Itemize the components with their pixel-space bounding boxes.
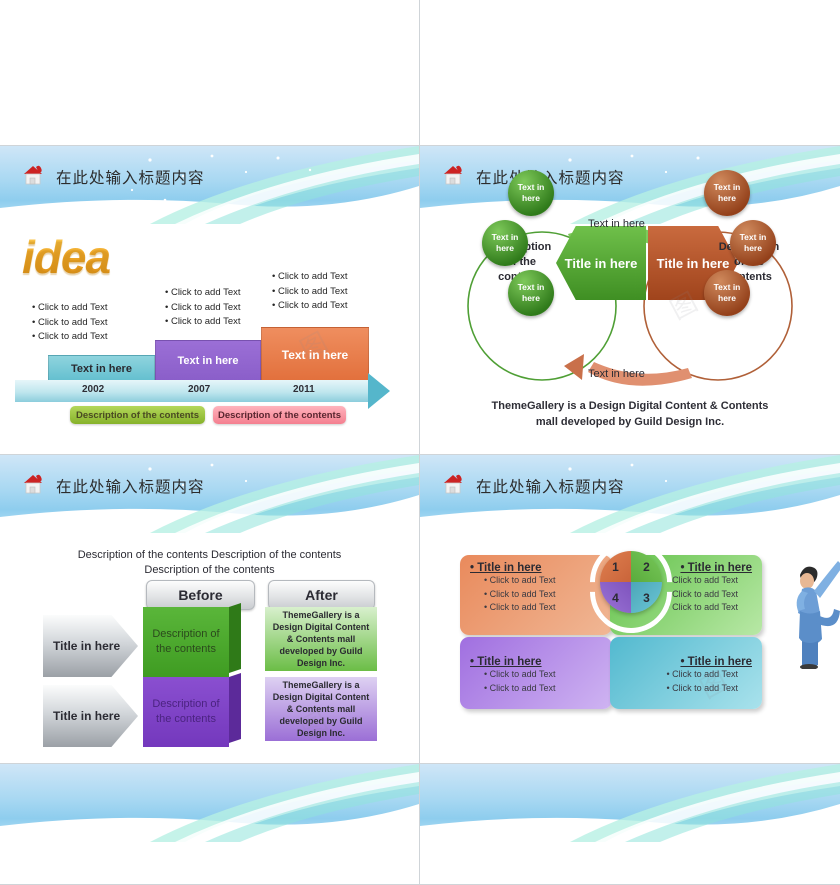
timeline-bar-2002: Text in here bbox=[48, 355, 155, 382]
before-cell-1: Description ofthe contents bbox=[143, 607, 229, 677]
before-cell-2: Description ofthe contents bbox=[143, 677, 229, 747]
bullet-item: • Click to add Text bbox=[484, 668, 602, 682]
bullet-item: • Click to add Text bbox=[484, 682, 602, 696]
slide-thumbnail-6[interactable]: 在此处输入标题内容 • Title in here • Click to add… bbox=[420, 455, 840, 764]
slide-thumbnail-4[interactable]: 在此处输入标题内容 Title in here Title in here De… bbox=[420, 146, 840, 455]
house-icon bbox=[20, 472, 46, 498]
bullet-item: • Click to add Text bbox=[484, 588, 602, 602]
slide-header-band: 在此处输入标题内容 bbox=[420, 146, 840, 224]
bubble-right-mid: Text inhere bbox=[730, 220, 776, 266]
bullet-item: • Click to add Text bbox=[165, 301, 241, 316]
slide-header-title: 在此处输入标题内容 bbox=[56, 166, 205, 188]
before-cell-2-side bbox=[229, 673, 241, 743]
bubble-right-top: Text inhere bbox=[704, 170, 750, 216]
quadrant-1-title: • Title in here bbox=[470, 562, 602, 574]
slide-thumbnail-3[interactable]: 在此处输入标题内容 idea • Click to add Text • Cli… bbox=[0, 146, 420, 455]
footnote-line-2: mall developed by Guild Design Inc. bbox=[536, 416, 724, 428]
yoga-pose-illustration bbox=[772, 541, 840, 669]
bullet-item: • Click to add Text bbox=[32, 330, 108, 345]
bullet-item: • Click to add Text bbox=[620, 682, 738, 696]
row-label-1: Title in here bbox=[43, 615, 138, 677]
slide-thumbnail-grid: Title Add Your Text bbox=[0, 0, 840, 788]
bullet-item: • Click to add Text bbox=[272, 285, 348, 300]
bubble-left-mid: Text inhere bbox=[482, 220, 528, 266]
quadrant-4-title: • Title in here bbox=[470, 656, 602, 668]
comparison-description: Description of the contents Description … bbox=[0, 548, 419, 578]
slide-thumbnail-7[interactable] bbox=[0, 764, 420, 885]
bubble-left-top: Text inhere bbox=[508, 170, 554, 216]
wave-decoration bbox=[0, 764, 419, 842]
bubble-left-bottom: Text inhere bbox=[508, 270, 554, 316]
timeline-bullets-col2: • Click to add Text • Click to add Text … bbox=[165, 286, 241, 330]
timeline-year-2007: 2007 bbox=[188, 384, 210, 395]
row-label-2: Title in here bbox=[43, 685, 138, 747]
slide-header-title: 在此处输入标题内容 bbox=[56, 475, 205, 497]
slide-header-title: 在此处输入标题内容 bbox=[476, 475, 625, 497]
slide-header-band bbox=[0, 764, 419, 842]
before-cell-1-side bbox=[229, 603, 241, 673]
slide-thumbnail-1[interactable]: Title Add Your Text bbox=[0, 0, 420, 146]
slide-header-band bbox=[420, 764, 840, 842]
footnote-line-1: ThemeGallery is a Design Digital Content… bbox=[492, 400, 769, 412]
house-icon bbox=[20, 163, 46, 189]
bullet-item: • Click to add Text bbox=[484, 601, 602, 615]
house-icon bbox=[440, 472, 466, 498]
loop-caption-bottom: Text in here bbox=[588, 368, 645, 380]
timeline-year-2002: 2002 bbox=[82, 384, 104, 395]
description-pill-green: Description of the contents bbox=[70, 406, 205, 424]
quadrant-4-bullets: • Click to add Text • Click to add Text bbox=[470, 668, 602, 695]
footnote: ThemeGallery is a Design Digital Content… bbox=[420, 398, 840, 430]
quadrant-card-4[interactable]: • Title in here • Click to add Text • Cl… bbox=[460, 637, 612, 709]
slide-header-band: 在此处输入标题内容 bbox=[420, 455, 840, 533]
slide-thumbnail-2[interactable]: Title inhere Text in here Text in here T… bbox=[420, 0, 840, 146]
bubble-right-bottom: Text inhere bbox=[704, 270, 750, 316]
house-icon bbox=[440, 163, 466, 189]
quadrant-3-bullets: • Click to add Text • Click to add Text bbox=[620, 668, 752, 695]
bullet-item: • Click to add Text bbox=[165, 286, 241, 301]
timeline-year-2011: 2011 bbox=[293, 384, 315, 395]
bullet-item: • Click to add Text bbox=[32, 301, 108, 316]
wave-decoration bbox=[420, 764, 840, 842]
bullet-item: • Click to add Text bbox=[165, 315, 241, 330]
column-header-after: After bbox=[268, 580, 375, 610]
slide-thumbnail-8[interactable] bbox=[420, 764, 840, 885]
idea-wordmark: idea bbox=[22, 230, 110, 284]
timeline-arrow-head bbox=[368, 373, 390, 409]
bullet-item: • Click to add Text bbox=[272, 299, 348, 314]
slide-thumbnail-5[interactable]: 在此处输入标题内容 Description of the contents De… bbox=[0, 455, 420, 764]
quadrant-1-bullets: • Click to add Text • Click to add Text … bbox=[470, 574, 602, 615]
slide-header-band: 在此处输入标题内容 bbox=[0, 455, 419, 533]
timeline-bar-2007: Text in here bbox=[155, 340, 261, 382]
timeline-bullets-col1: • Click to add Text • Click to add Text … bbox=[32, 301, 108, 345]
after-cell-1: ThemeGallery is aDesign Digital Content&… bbox=[265, 607, 377, 671]
quadrant-card-3[interactable]: • Title in here • Click to add Text • Cl… bbox=[610, 637, 762, 709]
after-cell-2: ThemeGallery is aDesign Digital Content&… bbox=[265, 677, 377, 741]
quadrant-3-title: • Title in here bbox=[620, 656, 752, 668]
timeline-bar-2011: Text in here bbox=[261, 327, 369, 382]
description-pill-pink: Description of the contents bbox=[213, 406, 346, 424]
bullet-item: • Click to add Text bbox=[620, 668, 738, 682]
bullet-item: • Click to add Text bbox=[32, 316, 108, 331]
timeline-bullets-col3: • Click to add Text • Click to add Text … bbox=[272, 270, 348, 314]
bullet-item: • Click to add Text bbox=[484, 574, 602, 588]
slide-header-band: 在此处输入标题内容 bbox=[0, 146, 419, 224]
bullet-item: • Click to add Text bbox=[272, 270, 348, 285]
loop-caption-top: Text in here bbox=[588, 218, 645, 230]
